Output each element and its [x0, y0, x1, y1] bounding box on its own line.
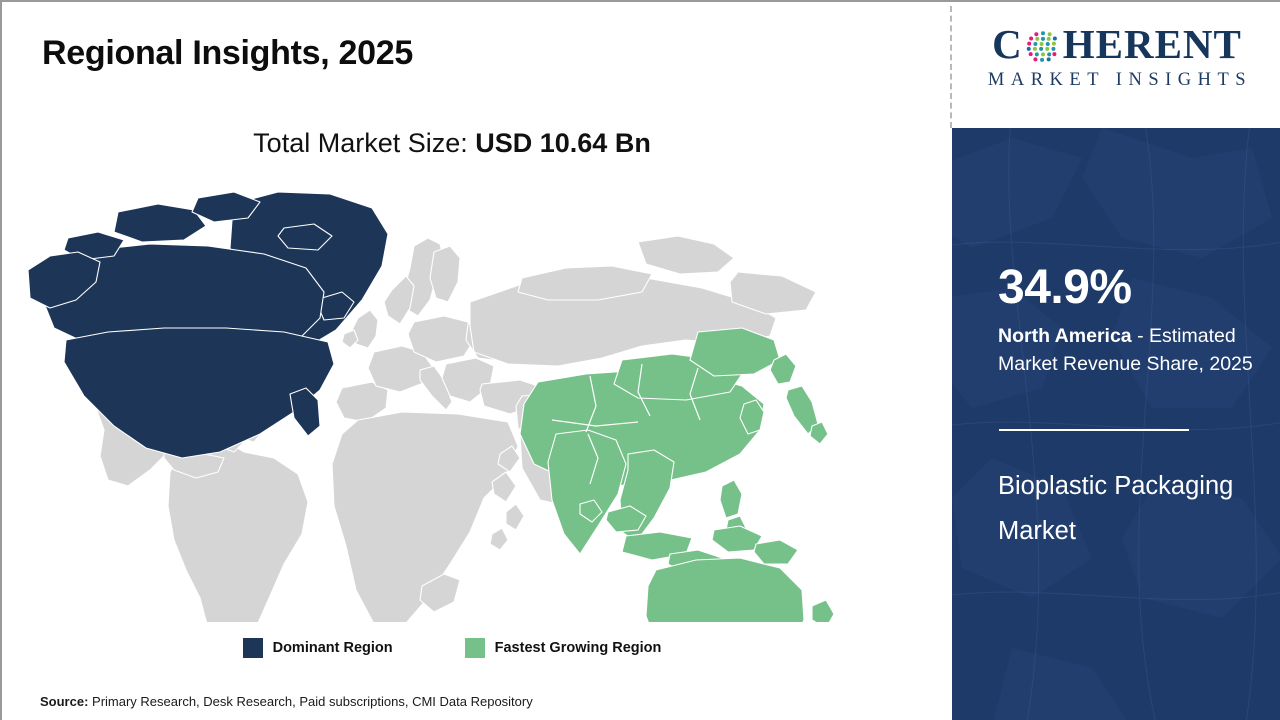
dotted-globe-icon	[1024, 28, 1062, 66]
logo-letter-c: C	[992, 24, 1023, 65]
region-asia-pacific-fastest	[520, 328, 842, 622]
source-note: Source: Primary Research, Desk Research,…	[40, 694, 533, 709]
total-market-size: Total Market Size: USD 10.64 Bn	[2, 128, 902, 159]
stat-divider-rule	[999, 429, 1189, 431]
legend-item-fastest-growing: Fastest Growing Region	[465, 638, 662, 658]
source-label: Source:	[40, 694, 88, 709]
square-swatch-icon	[243, 638, 263, 658]
logo-subtitle: MARKET INSIGHTS	[966, 70, 1268, 91]
region-africa	[332, 412, 524, 622]
logo-letters-herent: HERENT	[1063, 24, 1242, 65]
brand-logo: C	[952, 2, 1280, 128]
stat-description: North America - Estimated Market Revenue…	[998, 323, 1260, 378]
stat-percent-value: 34.9%	[998, 264, 1132, 312]
total-market-size-value: USD 10.64 Bn	[475, 128, 651, 158]
left-content-pane: Regional Insights, 2025 Total Market Siz…	[2, 2, 950, 720]
total-market-size-label: Total Market Size:	[253, 128, 475, 158]
map-legend: Dominant Region Fastest Growing Region	[2, 638, 902, 658]
square-swatch-icon	[465, 638, 485, 658]
stat-region-name: North America	[998, 325, 1132, 347]
legend-item-dominant: Dominant Region	[243, 638, 393, 658]
legend-label-fastest-growing: Fastest Growing Region	[495, 640, 662, 656]
world-map	[22, 182, 902, 622]
infographic-root: Regional Insights, 2025 Total Market Siz…	[0, 0, 1280, 720]
stat-panel: 34.9% North America - Estimated Market R…	[952, 128, 1280, 720]
market-name: Bioplastic Packaging Market	[998, 464, 1248, 555]
logo-wordmark: C	[966, 24, 1268, 65]
page-title: Regional Insights, 2025	[42, 34, 413, 73]
source-text: Primary Research, Desk Research, Paid su…	[88, 694, 532, 709]
legend-label-dominant: Dominant Region	[273, 640, 393, 656]
